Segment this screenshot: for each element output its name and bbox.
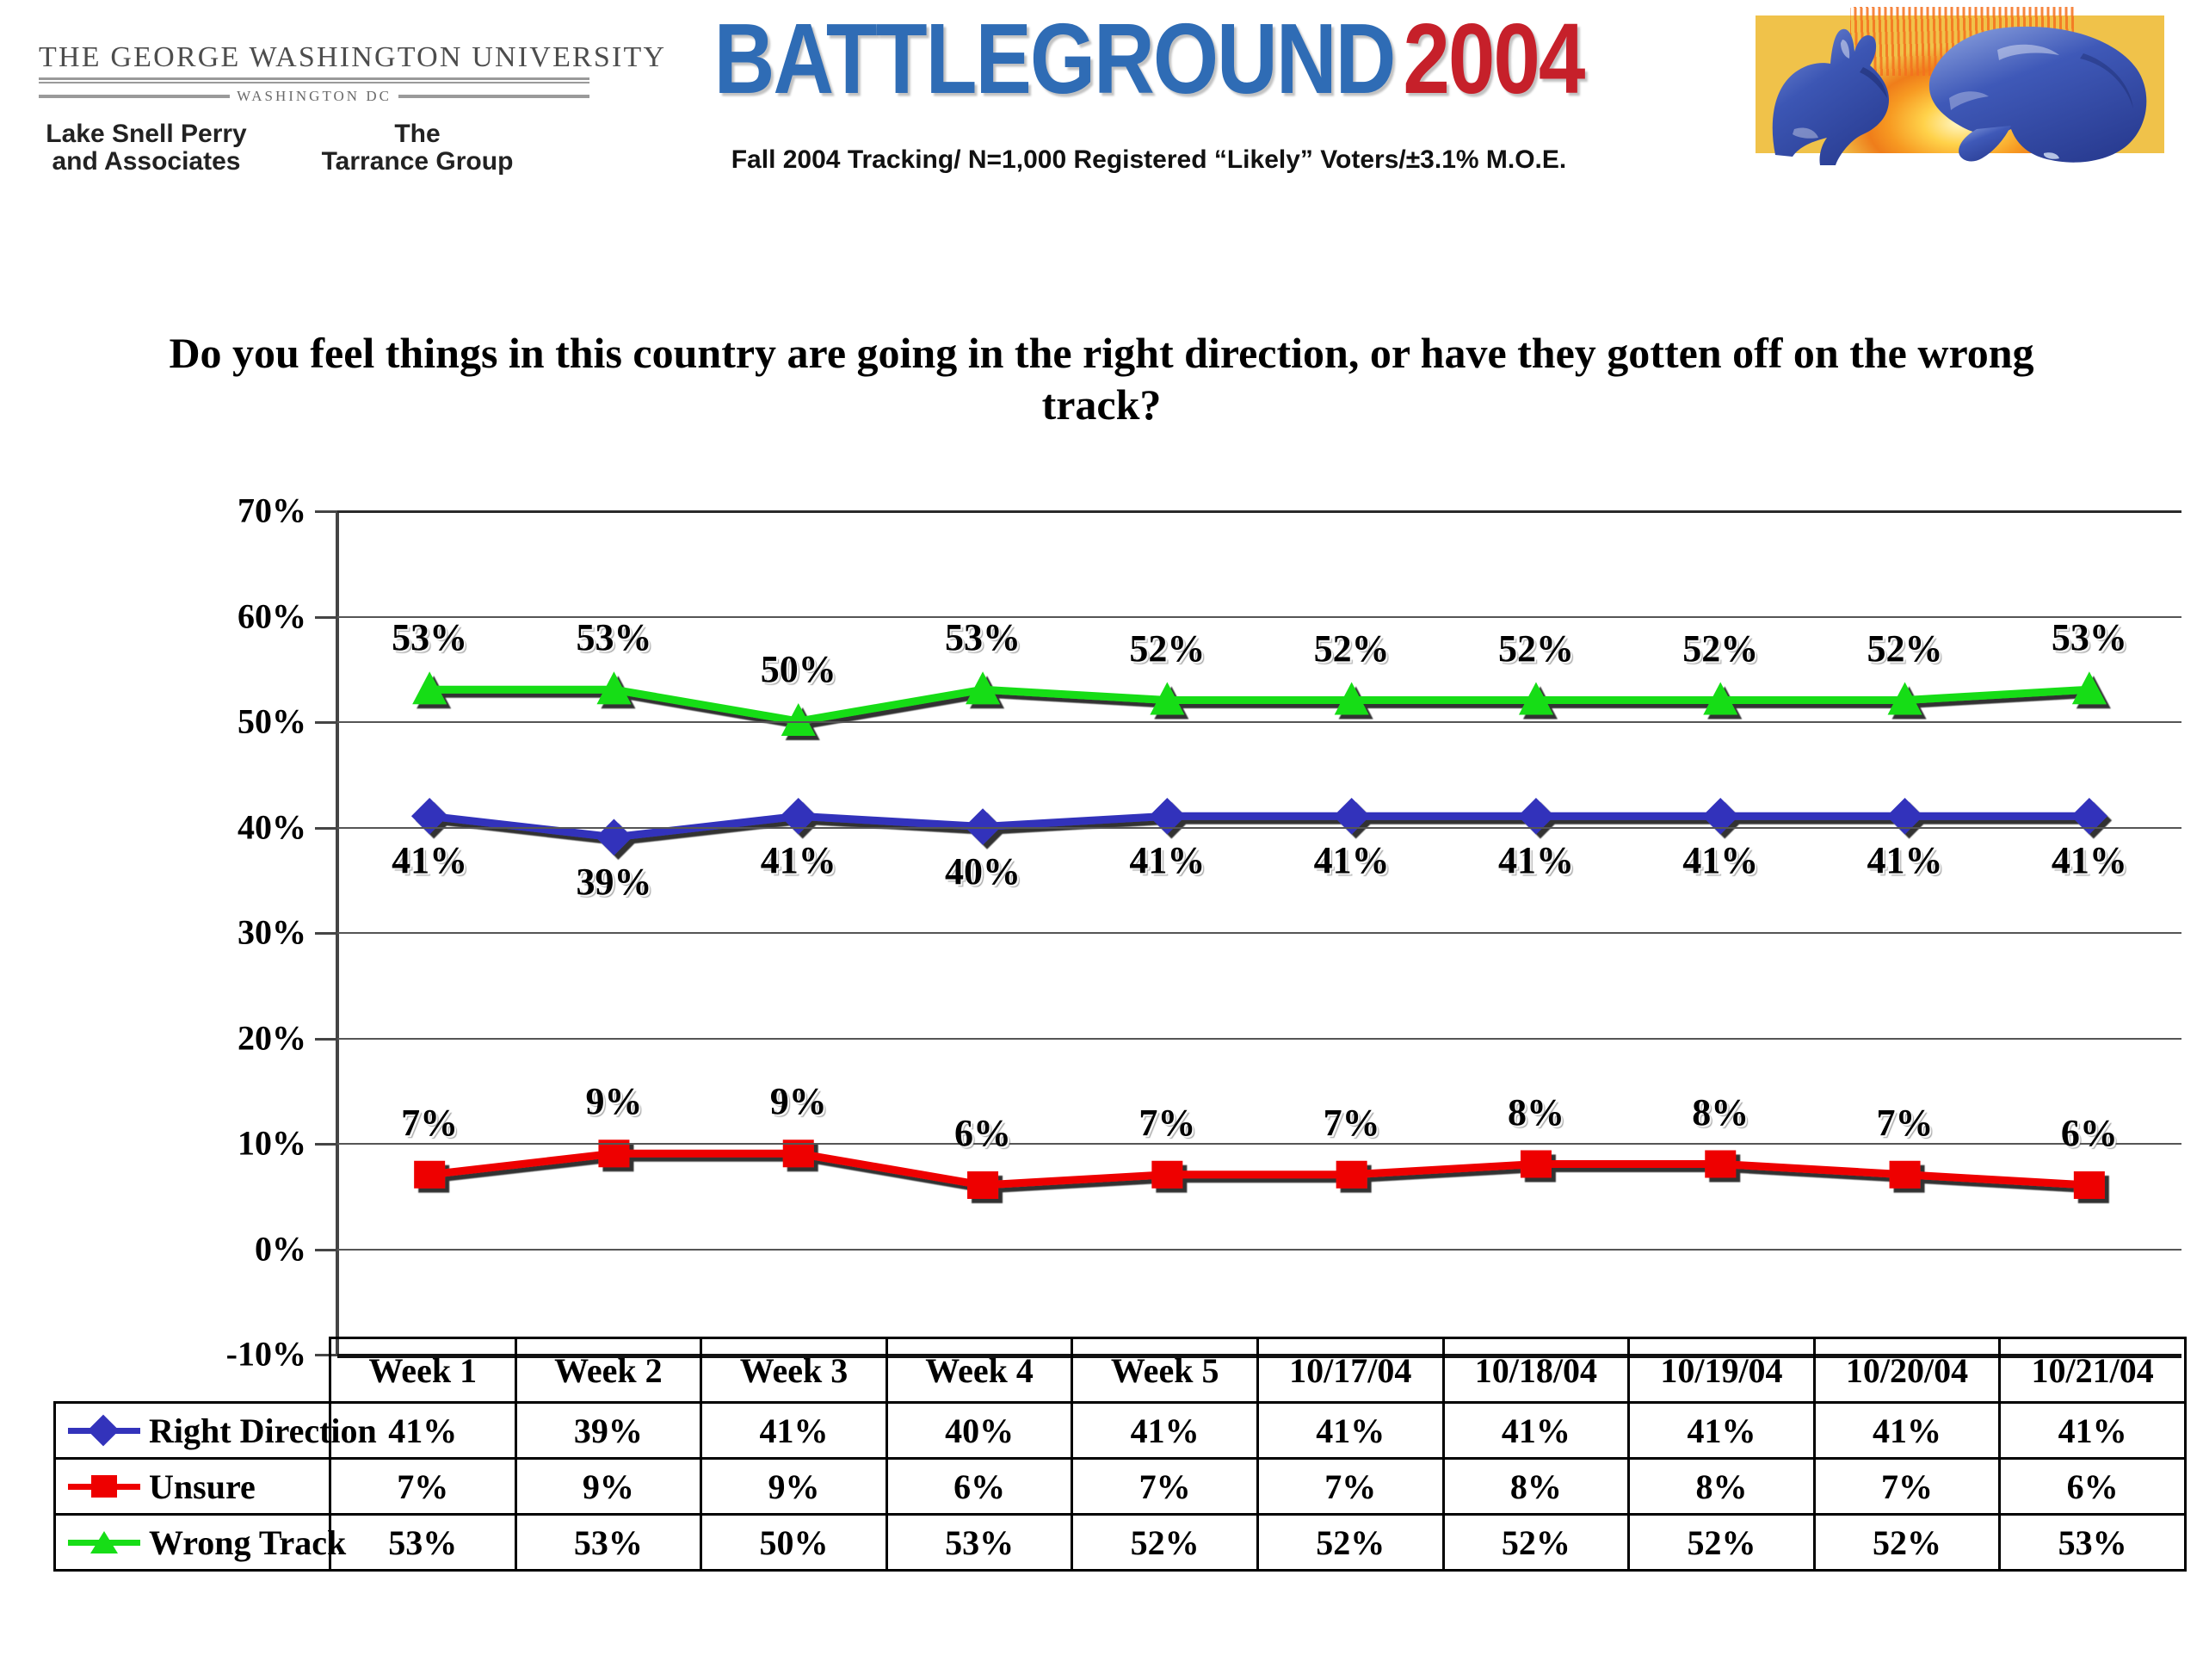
gridline-20: [337, 1038, 2181, 1040]
y-tick-10: [315, 1143, 339, 1146]
battleground-logo: BATTLEGROUND2004 Fall 2004 Tracking/ N=1…: [654, 19, 1644, 175]
data-point-diamond: [595, 819, 632, 855]
table-cell: 6%: [2000, 1459, 2186, 1515]
data-point-diamond: [1702, 798, 1738, 834]
data-label: 53%: [576, 615, 651, 659]
data-label: 52%: [1682, 627, 1758, 670]
data-label: 7%: [1877, 1101, 1934, 1145]
y-tick-40: [315, 827, 339, 830]
table-cell: 53%: [330, 1515, 516, 1571]
y-axis-tick-label: 70%: [238, 491, 306, 531]
y-axis-tick-label: 20%: [238, 1017, 306, 1058]
data-point-diamond: [411, 798, 447, 834]
data-label: 41%: [1867, 838, 1943, 882]
table-cell: 41%: [1814, 1403, 2000, 1459]
slide-header: THE GEORGE WASHINGTON UNIVERSITY WASHING…: [0, 0, 2203, 185]
plot-area: 41%39%41%40%41%41%41%41%41%41%7%9%9%6%7%…: [337, 510, 2181, 1354]
table-cell: 52%: [1443, 1515, 1629, 1571]
y-tick-70: [315, 510, 339, 513]
table-row: Wrong Track53%53%50%53%52%52%52%52%52%53…: [55, 1515, 2186, 1571]
square-marker-icon: [91, 1475, 117, 1498]
data-point-square: [2074, 1171, 2105, 1199]
data-table-wrapper: Week 1Week 2Week 3Week 4Week 510/17/0410…: [53, 1337, 2184, 1572]
table-column-header: 10/21/04: [2000, 1338, 2186, 1403]
y-axis-tick-label: 0%: [255, 1228, 306, 1269]
legend-label: Right Direction: [149, 1411, 377, 1451]
logo-bar-left: [39, 95, 230, 98]
brand-year: 2004: [1403, 2, 1583, 116]
gridline-0: [337, 1249, 2181, 1251]
triangle-marker-icon: [90, 1531, 118, 1553]
gridline-70: [337, 510, 2181, 513]
legend-cell-unsure: Unsure: [55, 1459, 330, 1515]
table-cell: 41%: [1443, 1403, 1629, 1459]
table-header-row: Week 1Week 2Week 3Week 4Week 510/17/0410…: [55, 1338, 2186, 1403]
table-column-header: Week 3: [701, 1338, 887, 1403]
table-column-header: Week 4: [886, 1338, 1072, 1403]
gridline-50: [337, 721, 2181, 723]
y-axis-tick-label: 50%: [238, 701, 306, 742]
table-cell: 53%: [515, 1515, 701, 1571]
y-axis-tick-label: 60%: [238, 596, 306, 636]
data-label: 39%: [576, 860, 651, 904]
survey-subtitle: Fall 2004 Tracking/ N=1,000 Registered “…: [654, 145, 1644, 175]
data-label: 41%: [2052, 838, 2127, 882]
data-point-diamond: [1333, 798, 1369, 834]
data-point-diamond: [1149, 798, 1185, 834]
y-tick-30: [315, 932, 339, 935]
gw-university-location: WASHINGTON DC: [237, 88, 392, 105]
data-point-diamond: [781, 798, 817, 834]
data-point-square: [1151, 1161, 1182, 1189]
data-label: 41%: [1129, 838, 1205, 882]
legend-cell-right-direction: Right Direction: [55, 1403, 330, 1459]
table-cell: 41%: [1629, 1403, 1815, 1459]
gw-university-logo: THE GEORGE WASHINGTON UNIVERSITY WASHING…: [39, 41, 589, 105]
data-label: 41%: [1498, 838, 1574, 882]
y-tick-0: [315, 1249, 339, 1251]
y-tick-50: [315, 721, 339, 724]
table-cell: 7%: [1257, 1459, 1443, 1515]
series-wrong-track: [412, 671, 2107, 736]
data-label: 41%: [761, 838, 836, 882]
legend-marker: [68, 1473, 140, 1499]
table-column-header: 10/20/04: [1814, 1338, 2000, 1403]
data-label: 7%: [401, 1101, 458, 1145]
table-cell: 50%: [701, 1515, 887, 1571]
page-title: Do you feel things in this country are g…: [155, 327, 2048, 430]
logo-bar-right: [398, 95, 589, 98]
gw-university-name: THE GEORGE WASHINGTON UNIVERSITY: [39, 41, 589, 74]
data-point-square: [1705, 1151, 1736, 1178]
data-label: 50%: [761, 647, 836, 691]
data-point-square: [1336, 1161, 1367, 1189]
table-cell: 7%: [330, 1459, 516, 1515]
table-cell: 41%: [1072, 1403, 1258, 1459]
data-label: 9%: [770, 1079, 827, 1123]
table-cell: 53%: [2000, 1515, 2186, 1571]
gw-location-row: WASHINGTON DC: [39, 88, 589, 105]
table-cell: 52%: [1072, 1515, 1258, 1571]
data-label: 7%: [1324, 1101, 1380, 1145]
y-axis-tick-label: 40%: [238, 806, 306, 847]
data-point-square: [1521, 1151, 1552, 1178]
data-label: 41%: [1314, 838, 1390, 882]
diamond-marker-icon: [88, 1415, 120, 1447]
y-tick-20: [315, 1038, 339, 1041]
table-cell: 41%: [701, 1403, 887, 1459]
table-cell: 8%: [1629, 1459, 1815, 1515]
table-cell: 41%: [1257, 1403, 1443, 1459]
table-row: Right Direction41%39%41%40%41%41%41%41%4…: [55, 1403, 2186, 1459]
data-label: 52%: [1867, 627, 1943, 670]
data-label: 8%: [1508, 1090, 1564, 1134]
table-cell: 39%: [515, 1403, 701, 1459]
data-table: Week 1Week 2Week 3Week 4Week 510/17/0410…: [53, 1337, 2187, 1572]
table-cell: 9%: [701, 1459, 887, 1515]
series-unsure: [414, 1140, 2105, 1199]
data-label: 53%: [945, 615, 1021, 659]
data-point-square: [414, 1161, 445, 1189]
y-axis-labels: -10%0%10%20%30%40%50%60%70%: [0, 510, 308, 1354]
table-body: Right Direction41%39%41%40%41%41%41%41%4…: [55, 1403, 2186, 1571]
table-cell: 40%: [886, 1403, 1072, 1459]
firm-lake-snell-perry: Lake Snell Perry and Associates: [17, 120, 275, 176]
logo-divider-second: [39, 82, 589, 83]
table-column-header: 10/18/04: [1443, 1338, 1629, 1403]
table-cell: 41%: [2000, 1403, 2186, 1459]
data-label: 52%: [1314, 627, 1390, 670]
table-column-header: Week 2: [515, 1338, 701, 1403]
table-corner-cell: [55, 1338, 330, 1403]
data-label: 6%: [954, 1111, 1011, 1155]
mascots-graphic: [1747, 0, 2177, 172]
series-line: [429, 1153, 2089, 1185]
data-label: 8%: [1692, 1090, 1749, 1134]
y-axis-tick-label: 10%: [238, 1123, 306, 1164]
data-point-diamond: [2071, 798, 2107, 834]
table-column-header: Week 1: [330, 1338, 516, 1403]
data-label: 53%: [392, 615, 467, 659]
data-label: 9%: [585, 1079, 642, 1123]
table-column-header: 10/19/04: [1629, 1338, 1815, 1403]
table-cell: 52%: [1629, 1515, 1815, 1571]
gridline-30: [337, 932, 2181, 934]
legend-label: Wrong Track: [149, 1522, 346, 1563]
gridline-40: [337, 827, 2181, 829]
table-cell: 8%: [1443, 1459, 1629, 1515]
table-cell: 52%: [1257, 1515, 1443, 1571]
legend-marker: [68, 1529, 140, 1555]
table-cell: 52%: [1814, 1515, 2000, 1571]
table-cell: 9%: [515, 1459, 701, 1515]
firm-tarrance-group: The Tarrance Group: [275, 120, 559, 176]
data-label: 53%: [2052, 615, 2127, 659]
y-axis-tick-label: 30%: [238, 912, 306, 953]
data-label: 52%: [1129, 627, 1205, 670]
legend-label: Unsure: [149, 1467, 256, 1507]
data-label: 6%: [2061, 1111, 2118, 1155]
table-cell: 7%: [1072, 1459, 1258, 1515]
table-column-header: 10/17/04: [1257, 1338, 1443, 1403]
chart: -10%0%10%20%30%40%50%60%70% 41%39%41%40%…: [0, 495, 2203, 1356]
data-label: 41%: [392, 838, 467, 882]
data-point-diamond: [1886, 798, 1922, 834]
legend-marker: [68, 1417, 140, 1443]
data-label: 40%: [945, 849, 1021, 893]
table-cell: 6%: [886, 1459, 1072, 1515]
table-column-header: Week 5: [1072, 1338, 1258, 1403]
brand-word: BATTLEGROUND: [714, 2, 1395, 116]
data-label: 7%: [1139, 1101, 1195, 1145]
data-label: 52%: [1498, 627, 1574, 670]
data-point-diamond: [1518, 798, 1554, 834]
table-row: Unsure7%9%9%6%7%7%8%8%7%6%: [55, 1459, 2186, 1515]
logo-divider-top: [39, 77, 589, 80]
donkey-icon: [1768, 26, 1928, 168]
table-cell: 53%: [886, 1515, 1072, 1571]
elephant-icon: [1915, 15, 2156, 170]
data-label: 41%: [1682, 838, 1758, 882]
data-point-square: [1890, 1161, 1921, 1189]
y-tick-60: [315, 616, 339, 619]
table-cell: 7%: [1814, 1459, 2000, 1515]
data-point-square: [967, 1171, 998, 1199]
legend-cell-wrong-track: Wrong Track: [55, 1515, 330, 1571]
series-line: [429, 689, 2089, 721]
